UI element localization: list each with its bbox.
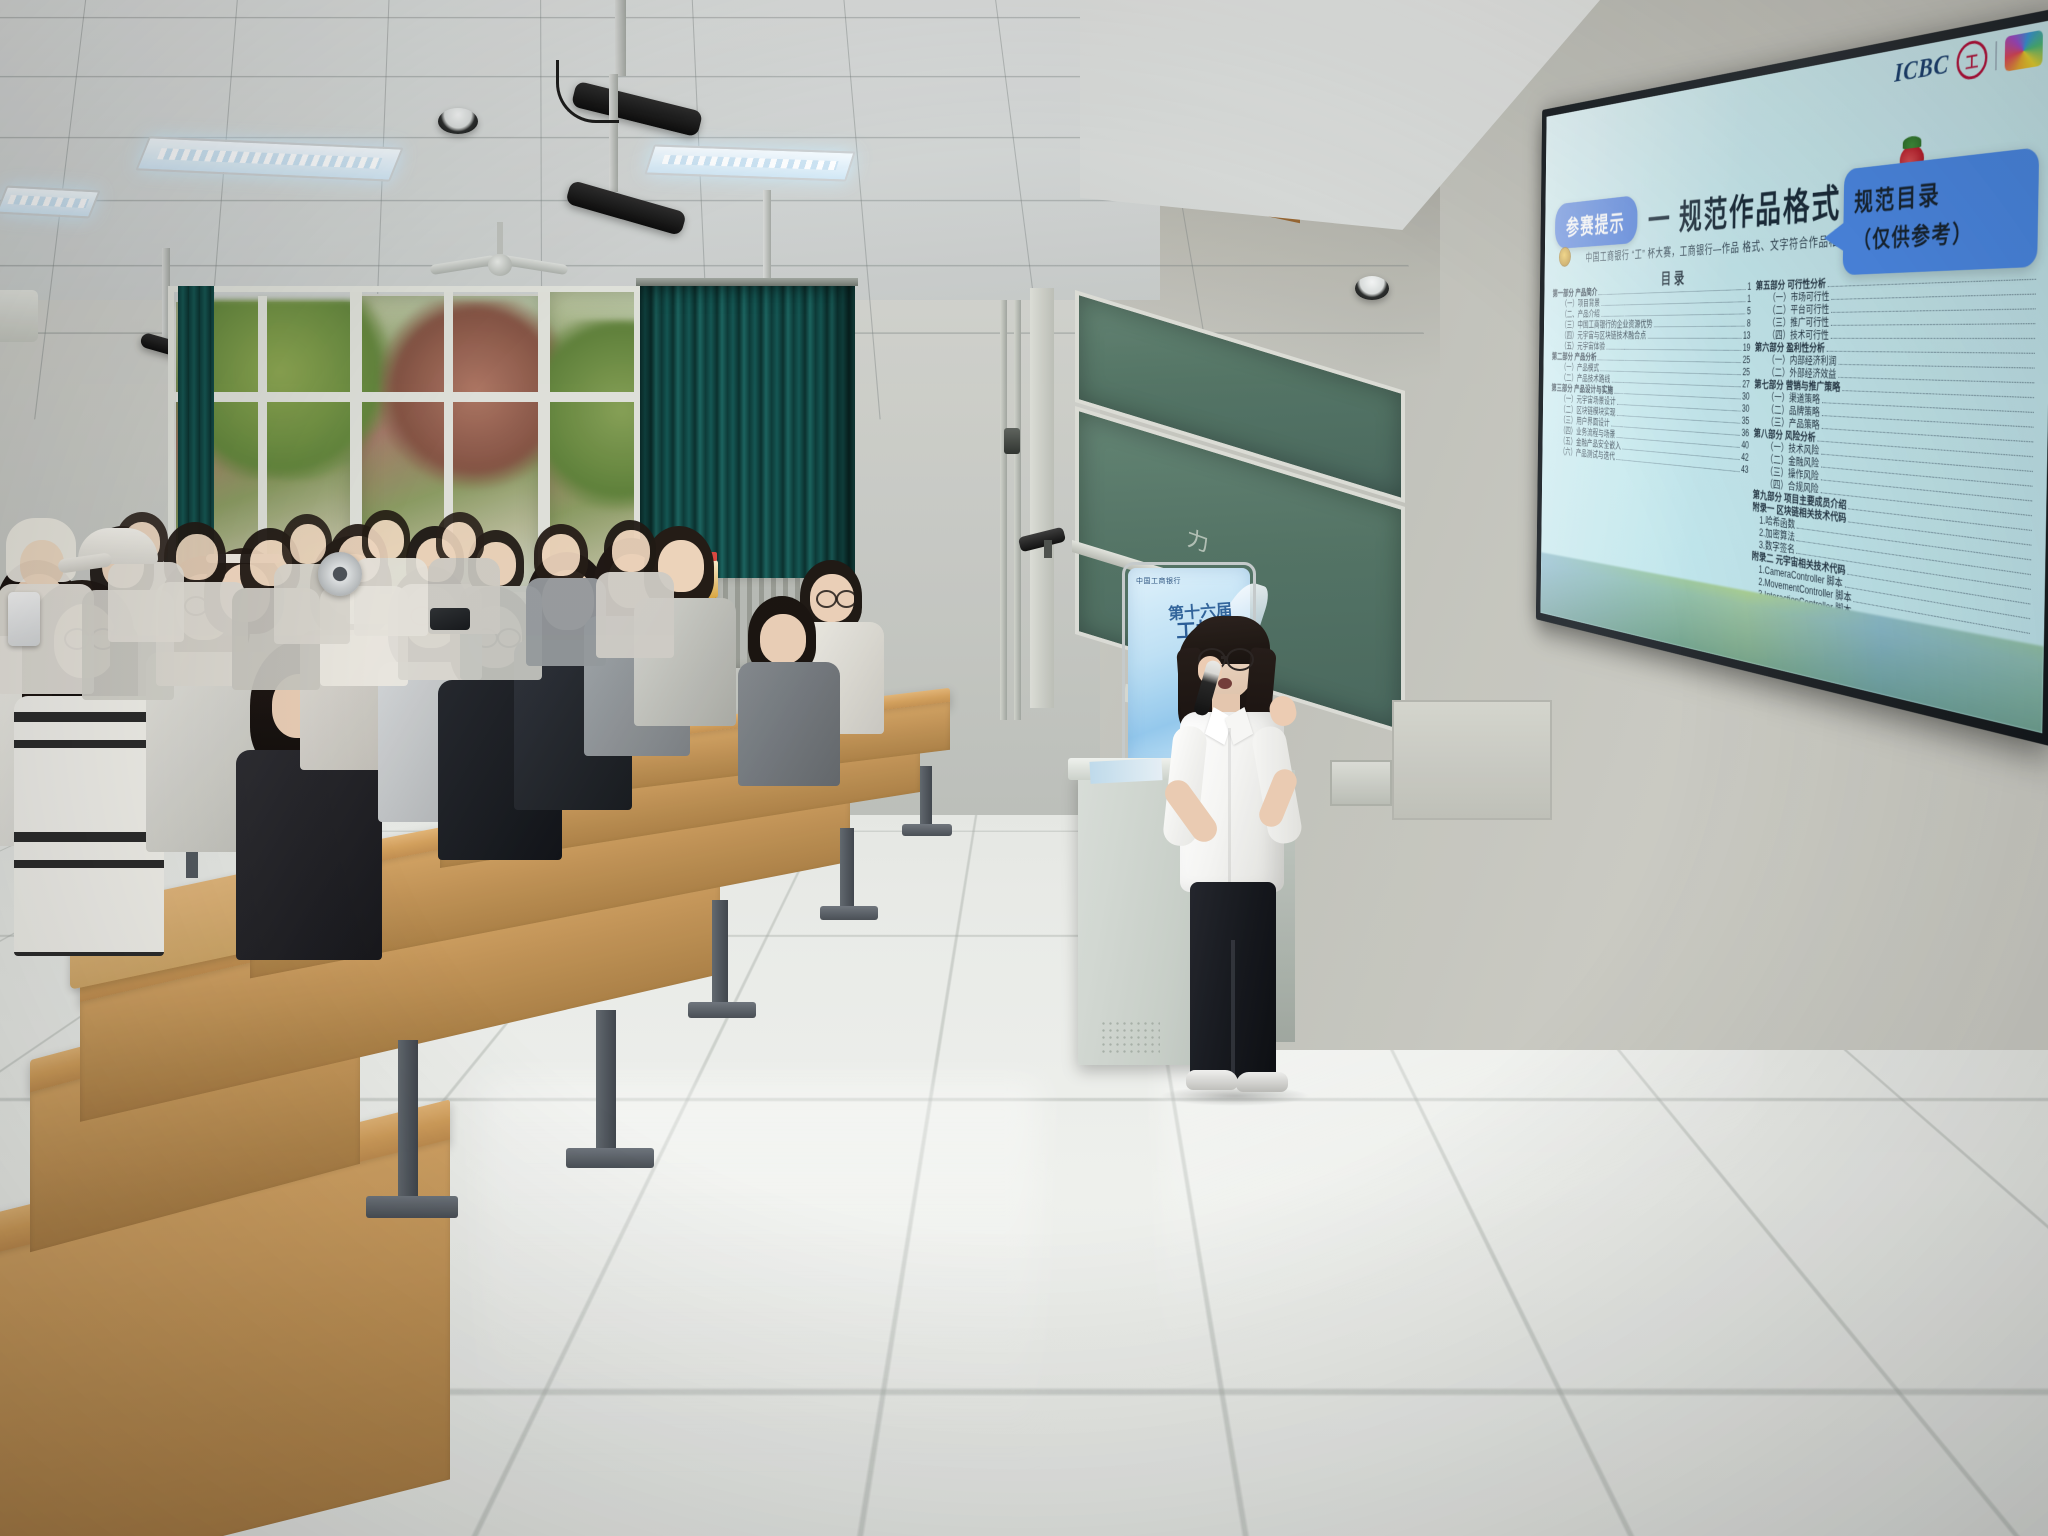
toc-entry-page: 36 xyxy=(1741,428,1749,438)
toc-entry-label: 第二部分 产品分析 xyxy=(1552,352,1597,362)
eyeglasses-icon-right xyxy=(1226,648,1254,671)
wall-ac-unit xyxy=(0,290,38,342)
icbc-wordmark: ICBC xyxy=(1894,48,1949,89)
toc-entry-label: （二）外部经济效益 xyxy=(1754,367,1836,380)
desk-foot-1 xyxy=(566,1148,654,1168)
icbc-seal-icon: 工 xyxy=(1956,38,1987,81)
slide-section-tag: 参赛提示 xyxy=(1555,195,1638,249)
toc-entry-page: 25 xyxy=(1743,355,1751,365)
presentation-slide[interactable]: ICBC 工 参赛提示 一 规范作品格式 中国工商银行 “工” 杯大赛，工商银行… xyxy=(1540,19,2048,733)
toc-entry-label: 第一部分 产品简介 xyxy=(1553,288,1598,299)
toc-leader-dots xyxy=(1831,323,2035,326)
slide-callout-bubble: 规范目录 （仅供参考） xyxy=(1843,147,2040,275)
desk-foot-5 xyxy=(902,824,952,836)
wall-speaker xyxy=(1330,760,1392,806)
pipe-valve xyxy=(1004,428,1020,454)
handheld-fan[interactable] xyxy=(318,552,362,596)
toc-entry-label: （二）品牌策略 xyxy=(1754,404,1820,418)
toc-entry-page: 27 xyxy=(1742,379,1750,389)
toc-leader-dots xyxy=(1616,459,1739,472)
desk-leg-1 xyxy=(596,1010,616,1160)
toc-entry-label: 第五部分 可行性分析 xyxy=(1756,279,1826,292)
wall-access-panel xyxy=(1392,700,1552,820)
ceiling-tube-light-3 xyxy=(0,185,101,218)
toc-entry-label: （一）产品模式 xyxy=(1552,363,1599,373)
toc-leader-dots xyxy=(1838,364,2034,369)
student-26 xyxy=(740,596,846,776)
rainbow-logo-icon xyxy=(2005,30,2043,72)
toc-entry-page: 25 xyxy=(1742,367,1750,377)
ceiling-fan xyxy=(430,252,570,278)
banner-logo-text: 中国工商银行 xyxy=(1136,576,1181,586)
toc-entry-page: 1 xyxy=(1747,294,1751,304)
toc-left-entry-4: （四）元宇宙与区块链技术融合点13 xyxy=(1552,331,1751,342)
desk-leg-5 xyxy=(920,766,932,832)
toc-left-entry-3: （三）中国工商银行的企业资源优势8 xyxy=(1552,318,1751,330)
curtain-rod xyxy=(636,278,858,286)
toc-entry-label: （一）内部经济利润 xyxy=(1755,355,1837,367)
desk-foot-3 xyxy=(688,1002,756,1018)
toc-entry-label: 第六部分 盈利性分析 xyxy=(1755,343,1825,354)
toc-entry-label: （四）技术可行性 xyxy=(1755,330,1829,341)
eyeglasses-bridge xyxy=(1221,656,1228,659)
toc-entry-page: 40 xyxy=(1741,440,1749,450)
toc-leader-dots xyxy=(1831,308,2035,312)
toc-entry-label: （二、产品介绍 xyxy=(1552,310,1599,320)
toc-right-entry-4: （四）技术可行性 xyxy=(1755,329,2038,342)
desk-leg-4 xyxy=(840,828,854,914)
wall-pipe-2 xyxy=(1014,300,1021,720)
brand-divider xyxy=(1995,41,1997,70)
toc-leader-dots xyxy=(1648,338,1742,339)
desk-foot-2 xyxy=(366,1196,458,1218)
wall-pipe-1 xyxy=(1000,300,1007,720)
toc-entry-label: （三）中国工商银行的企业资源优势 xyxy=(1552,320,1652,330)
bullet-camera-mount xyxy=(1044,540,1052,558)
floor-window-reflection xyxy=(480,1080,1040,1460)
toc-entry-page: 1 xyxy=(1747,282,1751,292)
toc-leader-dots xyxy=(1600,370,1740,375)
projection-screen[interactable]: ICBC 工 参赛提示 一 规范作品格式 中国工商银行 “工” 杯大赛，工商银行… xyxy=(1536,7,2048,747)
organization-seal-icon xyxy=(1559,247,1571,268)
toc-entry-page: 43 xyxy=(1741,464,1749,474)
toc-entry-page: 42 xyxy=(1741,452,1749,462)
toc-leader-dots xyxy=(1831,294,2036,300)
toc-entry-page: 5 xyxy=(1747,306,1751,316)
toc-entry-label: （四）元宇宙与区块链技术融合点 xyxy=(1552,331,1646,340)
student-20 xyxy=(598,520,682,650)
toc-entry-label: （一）项目背景 xyxy=(1552,299,1599,309)
desk-foot-4 xyxy=(820,906,878,920)
toc-entry-label: （一）渠道策略 xyxy=(1754,392,1820,405)
toc-entry-page: 8 xyxy=(1747,318,1751,328)
toc-entry-page: 13 xyxy=(1743,331,1751,341)
classroom-photo-scene: 力 友 ICBC 工 参赛提示 一 规范作品格式 中国工商银行 “工” 杯大赛，… xyxy=(0,0,2048,1536)
smartphone-2[interactable] xyxy=(8,592,40,646)
toc-entry-label: （一）市场可行性 xyxy=(1756,291,1830,304)
slide-title: 一 规范作品格式 xyxy=(1648,172,1842,242)
toc-entry-page: 30 xyxy=(1742,391,1750,401)
smartphone-3[interactable] xyxy=(430,608,470,630)
desk-leg-3 xyxy=(712,900,728,1012)
toc-leader-dots xyxy=(1831,338,2035,339)
chalk-mark-1: 力 xyxy=(1186,520,1210,559)
toc-right-entry-3: （三）推广可行性 xyxy=(1755,314,2038,329)
student-23 xyxy=(356,510,434,626)
toc-leader-dots xyxy=(1654,326,1745,328)
presenter xyxy=(1150,600,1310,1100)
toc-entry-page: 19 xyxy=(1743,343,1751,353)
dome-camera-icon xyxy=(438,108,478,134)
desk-leg-2 xyxy=(398,1040,418,1208)
toc-leader-dots xyxy=(1601,313,1745,316)
toc-leader-dots xyxy=(1606,349,1741,351)
presenter-shoe-right xyxy=(1236,1072,1288,1092)
toc-entry-label: （二）平台可行性 xyxy=(1755,304,1829,316)
toc-leader-dots xyxy=(1601,301,1745,306)
toc-entry-label: （五）元宇宙体验 xyxy=(1552,342,1605,351)
toc-entry-label: （三）推广可行性 xyxy=(1755,317,1829,328)
toc-leader-dots xyxy=(1827,351,2035,354)
presenter-shoe-left xyxy=(1186,1070,1238,1090)
presenter-mouth xyxy=(1218,678,1232,689)
shirt-placket xyxy=(1228,728,1231,888)
toc-leader-dots xyxy=(1598,360,1741,363)
trouser-seam xyxy=(1231,940,1235,1082)
door-frame xyxy=(1030,288,1054,708)
toc-entry-page: 35 xyxy=(1742,416,1750,426)
toc-entry-page: 30 xyxy=(1742,403,1750,413)
